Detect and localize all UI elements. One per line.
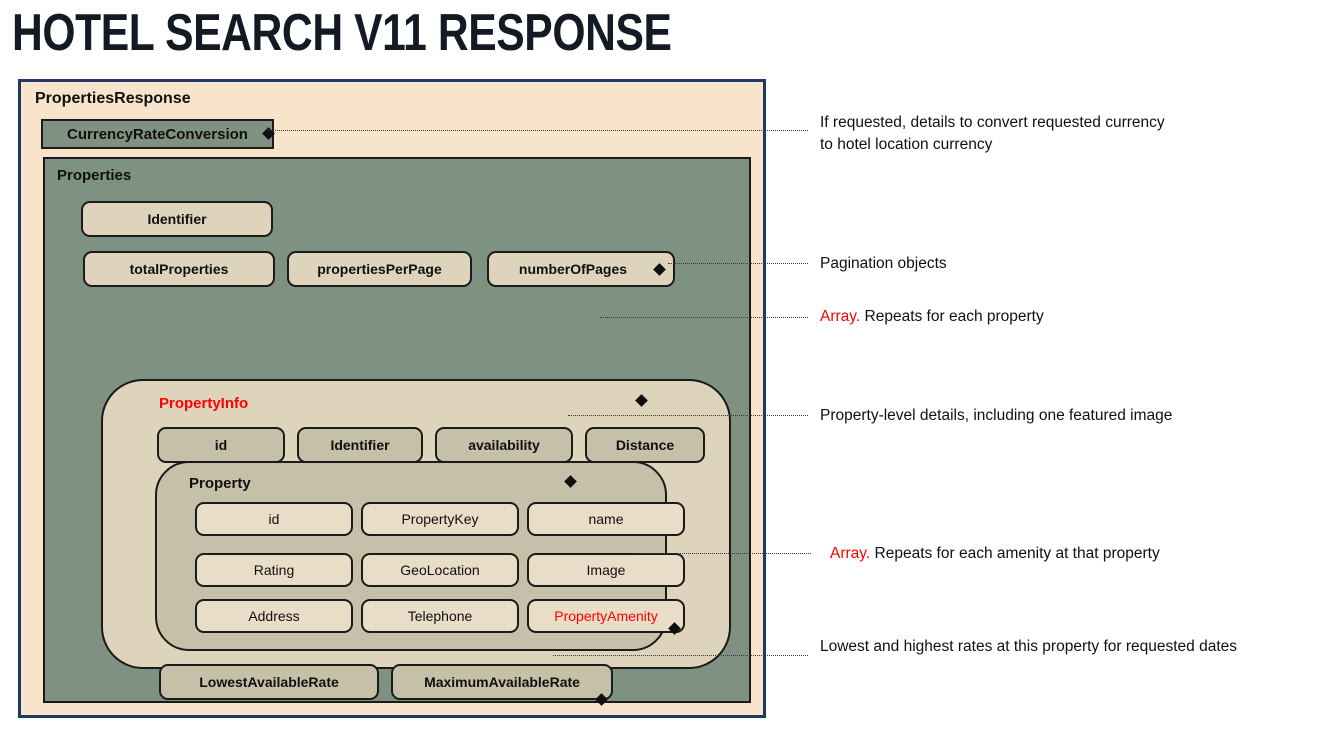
properties-identifier-box[interactable]: Identifier [81,201,273,237]
lowest-available-rate-box[interactable]: LowestAvailableRate [159,664,379,700]
annotation-property-amenity-lead: Array. [830,545,870,562]
property-name-label: name [588,511,623,527]
annotation-currency-line1: If requested, details to convert request… [820,112,1165,134]
connector-property-info [600,317,808,318]
property-info-diamond-marker [635,394,648,407]
properties-response-title: PropertiesResponse [35,90,191,108]
connector-property-amenity [636,553,811,554]
property-info-distance-label: Distance [616,437,674,453]
property-info-title: PropertyInfo [159,395,248,412]
maximum-available-rate-box[interactable]: MaximumAvailableRate [391,664,613,700]
connector-property [568,415,808,416]
number-of-pages-label: numberOfPages [519,261,627,277]
annotation-pagination-text: Pagination objects [820,255,947,272]
annotation-currency: If requested, details to convert request… [820,112,1165,157]
property-image-label: Image [587,562,626,578]
property-info-identifier-box[interactable]: Identifier [297,427,423,463]
property-info-id-label: id [215,437,227,453]
property-image-box[interactable]: Image [527,553,685,587]
properties-identifier-label: Identifier [147,211,206,227]
annotation-property-info-lead: Array. [820,308,860,325]
properties-per-page-box[interactable]: propertiesPerPage [287,251,472,287]
properties-block: Properties Identifier totalProperties pr… [43,157,751,703]
connector-currency [268,130,808,131]
property-amenity-label: PropertyAmenity [554,608,657,624]
property-address-label: Address [248,608,299,624]
property-info-availability-label: availability [468,437,540,453]
number-of-pages-box[interactable]: numberOfPages [487,251,675,287]
property-address-box[interactable]: Address [195,599,353,633]
currency-rate-conversion-box[interactable]: CurrencyRateConversion [41,119,274,149]
properties-title: Properties [57,167,131,184]
property-key-box[interactable]: PropertyKey [361,502,519,536]
property-info-container: PropertyInfo id Identifier availability … [101,379,731,669]
property-geolocation-box[interactable]: GeoLocation [361,553,519,587]
property-info-availability-box[interactable]: availability [435,427,573,463]
annotation-rates-text: Lowest and highest rates at this propert… [820,638,1237,655]
total-properties-label: totalProperties [130,261,229,277]
annotation-property: Property-level details, including one fe… [820,405,1172,427]
annotation-property-amenity-rest: Repeats for each amenity at that propert… [875,545,1160,562]
property-container: Property id PropertyKey name Rating GeoL [155,461,667,651]
connector-rates [553,655,808,656]
properties-response-frame: PropertiesResponse CurrencyRateConversio… [18,79,766,718]
connector-pagination [668,263,808,264]
property-id-label: id [269,511,280,527]
annotation-property-amenity: Array. Repeats for each amenity at that … [830,543,1160,565]
property-info-identifier-label: Identifier [330,437,389,453]
lowest-available-rate-label: LowestAvailableRate [199,674,339,690]
property-telephone-box[interactable]: Telephone [361,599,519,633]
currency-rate-conversion-label: CurrencyRateConversion [67,126,248,143]
property-title: Property [189,475,251,492]
property-key-label: PropertyKey [401,511,478,527]
properties-per-page-label: propertiesPerPage [317,261,442,277]
maximum-available-rate-label: MaximumAvailableRate [424,674,580,690]
total-properties-box[interactable]: totalProperties [83,251,275,287]
property-telephone-label: Telephone [408,608,473,624]
property-id-box[interactable]: id [195,502,353,536]
annotation-property-info: Array. Repeats for each property [820,306,1044,328]
annotation-pagination: Pagination objects [820,253,947,275]
annotation-property-info-rest: Repeats for each property [865,308,1044,325]
annotation-rates: Lowest and highest rates at this propert… [820,636,1237,658]
annotation-property-text: Property-level details, including one fe… [820,407,1172,424]
property-rating-label: Rating [254,562,294,578]
property-rating-box[interactable]: Rating [195,553,353,587]
property-info-id-box[interactable]: id [157,427,285,463]
property-diamond-marker [564,475,577,488]
property-info-distance-box[interactable]: Distance [585,427,705,463]
annotation-currency-line2: to hotel location currency [820,134,1165,156]
page-title: HOTEL SEARCH V11 RESPONSE [12,6,672,61]
property-name-box[interactable]: name [527,502,685,536]
property-geolocation-label: GeoLocation [400,562,479,578]
property-amenity-box[interactable]: PropertyAmenity [527,599,685,633]
